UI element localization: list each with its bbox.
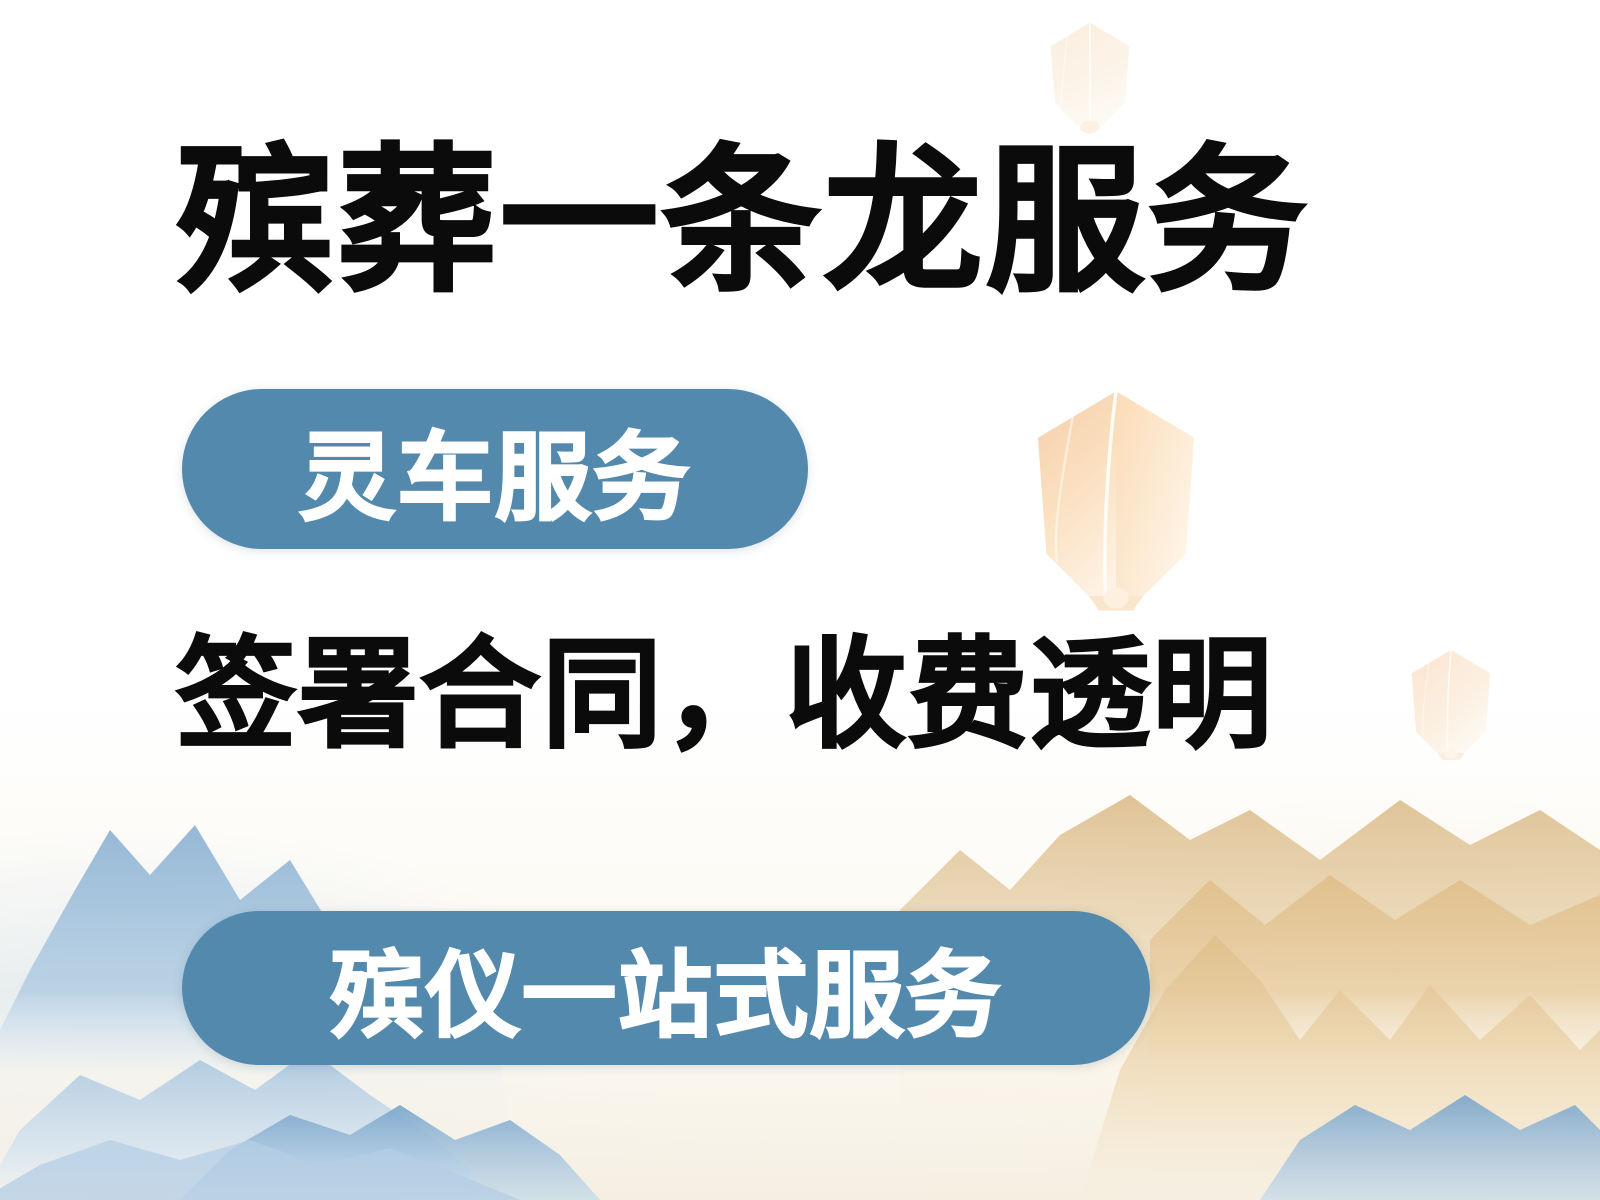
badge-one-stop-funeral-service[interactable]: 殡仪一站式服务	[182, 911, 1150, 1065]
page-subtitle: 签署合同，收费透明	[176, 632, 1274, 759]
poster-content: 殡葬一条龙服务 灵车服务 签署合同，收费透明 殡仪一站式服务	[0, 0, 1600, 1200]
badge-hearse-service-label: 灵车服务	[299, 400, 691, 539]
badge-hearse-service[interactable]: 灵车服务	[182, 389, 808, 549]
poster-canvas: 殡葬一条龙服务 灵车服务 签署合同，收费透明 殡仪一站式服务	[0, 0, 1600, 1200]
page-title: 殡葬一条龙服务	[176, 140, 1310, 307]
badge-one-stop-funeral-service-label: 殡仪一站式服务	[330, 920, 1002, 1056]
